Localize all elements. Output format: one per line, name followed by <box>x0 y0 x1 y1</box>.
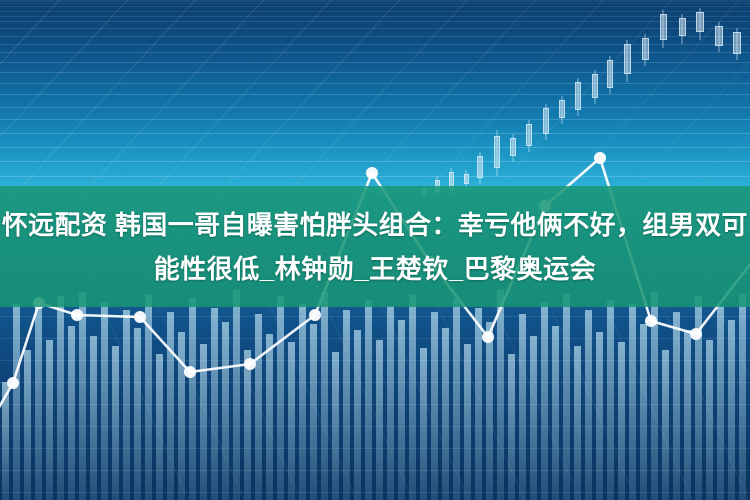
trend-line-marker <box>594 152 606 164</box>
trend-line-marker <box>244 358 256 370</box>
banner-image: 怀远配资 韩国一哥自曝害怕胖头组合：幸亏他俩不好，组男双可 能性很低_林钟勋_王… <box>0 0 750 500</box>
trend-line-marker <box>184 366 196 378</box>
title-line-1: 怀远配资 韩国一哥自曝害怕胖头组合：幸亏他俩不好，组男双可 <box>2 205 748 245</box>
title-block: 怀远配资 韩国一哥自曝害怕胖头组合：幸亏他俩不好，组男双可 能性很低_林钟勋_王… <box>0 186 750 307</box>
trend-line-marker <box>134 311 146 323</box>
trend-line-marker <box>366 167 378 179</box>
trend-line-marker <box>645 315 657 327</box>
trend-line-marker <box>7 377 19 389</box>
trend-line-marker <box>71 309 83 321</box>
trend-line-marker <box>482 331 494 343</box>
trend-line-marker <box>309 309 321 321</box>
title-line-2: 能性很低_林钟勋_王楚钦_巴黎奥运会 <box>154 249 596 289</box>
trend-line-marker <box>690 328 702 340</box>
